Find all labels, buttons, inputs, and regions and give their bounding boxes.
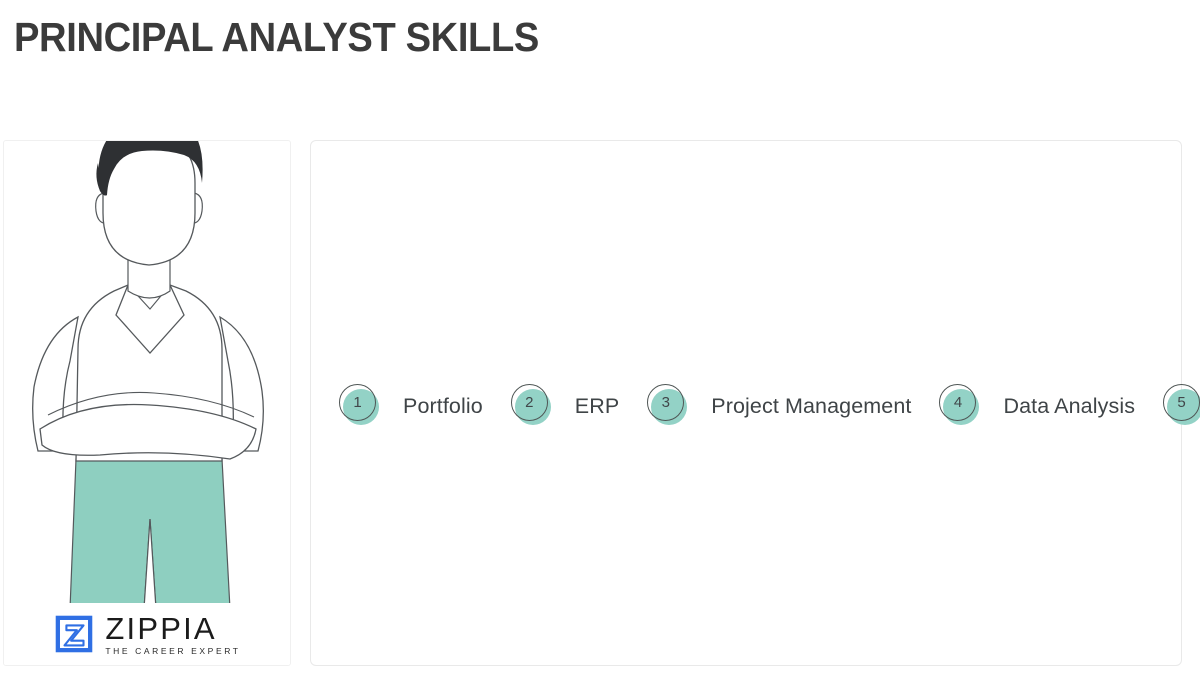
skill-label: Portfolio [403,394,483,419]
skill-label: Data Analysis [1003,394,1135,419]
skill-number-badge: 2 [511,384,555,428]
skill-number: 2 [511,384,548,421]
skills-grid: 1 Portfolio 2 ERP 3 Project Managemen [311,141,1181,665]
skill-number-badge: 4 [939,384,983,428]
skill-number: 5 [1163,384,1200,421]
zippia-z-icon [55,615,93,653]
skill-item[interactable]: 1 Portfolio [311,177,483,635]
skill-number-badge: 5 [1163,384,1200,428]
page-title: PRINCIPAL ANALYST SKILLS [14,14,539,61]
skill-item[interactable]: 4 Data Analysis [911,177,1135,635]
skill-item[interactable]: 5 Process Improvement [1135,177,1200,635]
person-illustration [4,140,291,609]
skill-number: 4 [939,384,976,421]
illustration-card: ZIPPIA THE CAREER EXPERT [3,140,291,666]
skill-item[interactable]: 2 ERP [483,177,620,635]
skill-label: Project Management [711,394,911,419]
logo-tagline: THE CAREER EXPERT [105,647,240,656]
logo-wordmark: ZIPPIA [105,613,240,644]
skill-item[interactable]: 3 Project Management [619,177,911,635]
skill-number: 1 [339,384,376,421]
zippia-logo: ZIPPIA THE CAREER EXPERT [4,603,291,665]
infographic-page: PRINCIPAL ANALYST SKILLS [0,0,1200,675]
skill-number-badge: 1 [339,384,383,428]
person-line-art-icon [4,140,291,609]
skill-label: ERP [575,394,620,419]
skill-number: 3 [647,384,684,421]
skill-number-badge: 3 [647,384,691,428]
skills-card: 1 Portfolio 2 ERP 3 Project Managemen [310,140,1182,666]
